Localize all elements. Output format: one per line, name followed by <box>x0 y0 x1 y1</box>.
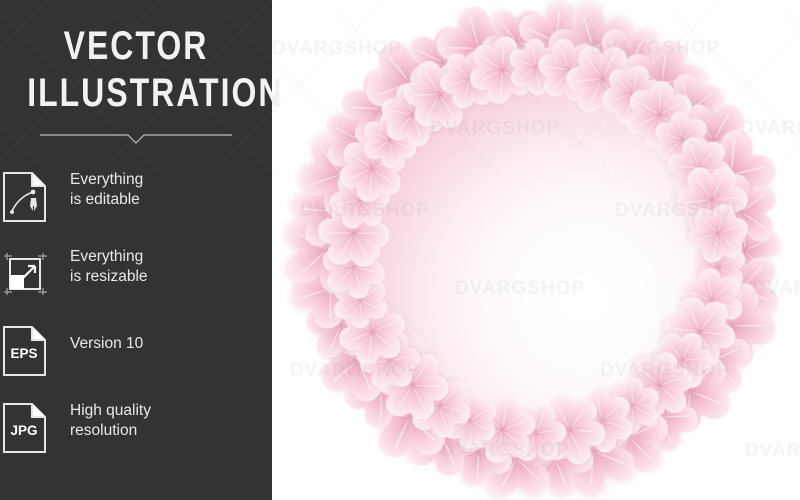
feature-item-resizable: Everything is resizable <box>0 243 272 320</box>
title-block: VECTOR ILLUSTRATION <box>0 26 272 114</box>
floral-wreath-graphic <box>272 0 800 500</box>
artwork-panel <box>272 0 800 500</box>
info-panel: VECTOR ILLUSTRATION <box>0 0 272 500</box>
jpg-icon-label: JPG <box>10 423 37 438</box>
divider-notch-icon <box>40 132 232 146</box>
feature-item-quality: JPG High quality resolution <box>0 397 272 474</box>
feature-label-editable: Everything is editable <box>70 170 260 211</box>
illustration-preview-card: DVARGSHOPDVARGSHOPDVARGSHOPDVARGSHOPDVAR… <box>0 0 800 500</box>
feature-label-version: Version 10 <box>70 334 260 354</box>
feature-item-editable: Everything is editable <box>0 166 272 243</box>
feature-label-quality: High quality resolution <box>70 401 260 442</box>
page-title-secondary: ILLUSTRATION <box>27 73 245 114</box>
document-pen-tool-icon <box>0 170 50 224</box>
resize-handles-arrow-icon <box>0 247 50 301</box>
feature-item-version: EPS Version 10 <box>0 320 272 397</box>
eps-icon-label: EPS <box>10 346 37 361</box>
jpg-file-icon: JPG <box>0 401 50 455</box>
feature-label-resizable: Everything is resizable <box>70 247 260 288</box>
page-title-primary: VECTOR <box>27 26 245 67</box>
feature-list: Everything is editable <box>0 166 272 474</box>
title-divider <box>40 132 232 146</box>
eps-file-icon: EPS <box>0 324 50 378</box>
